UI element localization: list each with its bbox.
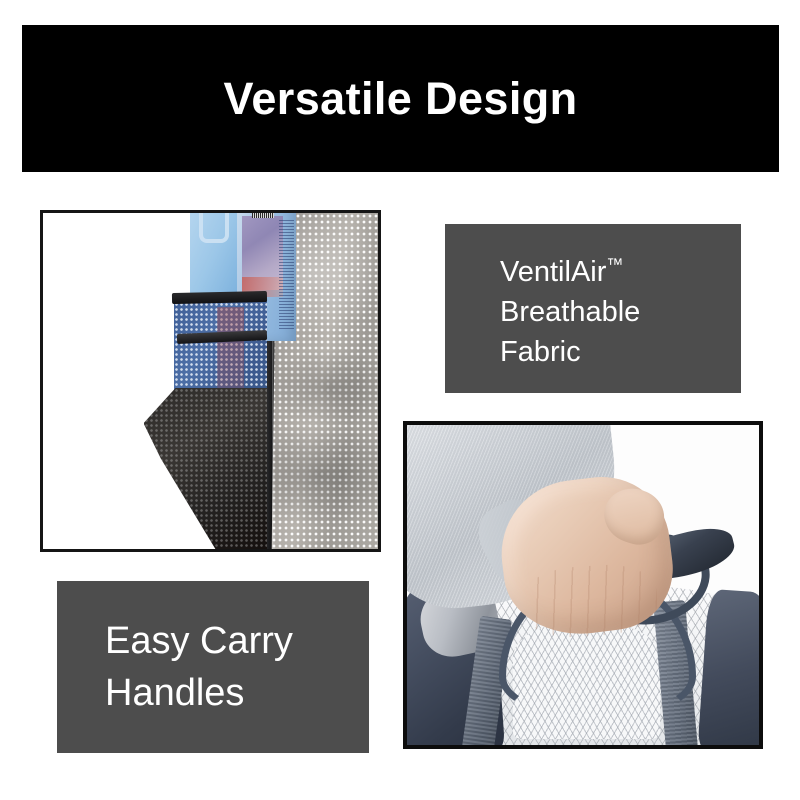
blue-jug-handle [199,213,229,243]
photo-carry-handle-image [407,425,759,745]
header-banner: Versatile Design [22,25,779,172]
caption-ventilair-line-2: Breathable [500,292,741,332]
trademark-icon: ™ [606,255,623,274]
caption-ventilair: VentilAir™ Breathable Fabric [445,224,741,393]
caption-easy-carry-line-1: Easy Carry [105,615,369,667]
photo-mesh-pocket-image [43,213,378,549]
product-feature-graphic: Versatile Design VentilAir™ Breathable F… [0,0,800,800]
supply-box-copy-lines [279,220,294,331]
caption-easy-carry: Easy Carry Handles [57,581,369,753]
photo-mesh-pocket [40,210,381,552]
photo-carry-handle [403,421,763,749]
caption-easy-carry-line-2: Handles [105,667,369,719]
caption-ventilair-line-1: VentilAir™ [500,245,741,292]
page-title: Versatile Design [223,76,577,121]
caption-ventilair-brand: VentilAir [500,256,606,288]
barcode-mark [252,213,274,218]
caption-ventilair-line-3: Fabric [500,332,741,372]
